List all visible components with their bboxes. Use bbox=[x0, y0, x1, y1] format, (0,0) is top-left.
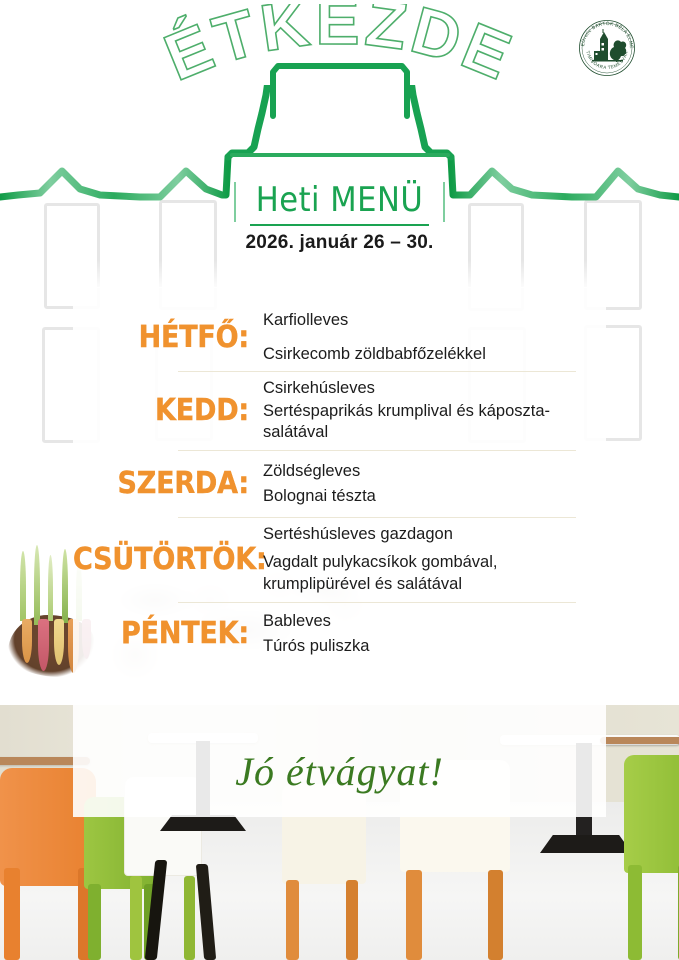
photo-chair-black-1 bbox=[148, 820, 218, 960]
menu-row-tuesday: KEDD: Csirkehúsleves Sertéspaprikás krum… bbox=[73, 372, 606, 450]
dish-item: Sertéshúsleves gazdagon bbox=[263, 524, 606, 546]
poster-title-text: ÉTKEZDE bbox=[154, 4, 524, 95]
dish-item: Vagdalt pulykacsíkok gombával, krumplipü… bbox=[263, 552, 606, 596]
day-label-monday: HÉTFŐ: bbox=[73, 323, 263, 353]
section-title-wrap: Heti MENÜ bbox=[0, 180, 679, 224]
photo-table-wood-right bbox=[600, 737, 679, 744]
title-rule-left bbox=[234, 182, 236, 222]
dishes-thursday: Sertéshúsleves gazdagon Vagdalt pulykacs… bbox=[263, 524, 606, 595]
dish-item: Zöldségleves bbox=[263, 461, 606, 483]
menu-row-thursday: CSÜTÖRTÖK: Sertéshúsleves gazdagon Vagda… bbox=[73, 518, 606, 602]
svg-text:ÉTKEZDE: ÉTKEZDE bbox=[154, 4, 524, 95]
dish-item: Bableves bbox=[263, 611, 606, 633]
dishes-wednesday: Zöldségleves Bolognai tészta bbox=[263, 461, 606, 508]
menu-list: HÉTFŐ: Karfiolleves Csirkecomb zöldbabfő… bbox=[73, 305, 606, 665]
menu-row-monday: HÉTFŐ: Karfiolleves Csirkecomb zöldbabfő… bbox=[73, 305, 606, 371]
closing-message: Jó étvágyat! bbox=[0, 748, 679, 795]
section-title-text: Heti MENÜ bbox=[256, 180, 424, 220]
day-label-friday: PÉNTEK: bbox=[73, 619, 263, 649]
dish-item: Sertéspaprikás krumplival és káposzta- s… bbox=[263, 401, 606, 445]
day-label-wednesday: SZERDA: bbox=[73, 469, 263, 499]
dishes-friday: Bableves Túrós puliszka bbox=[263, 611, 606, 658]
title-underline bbox=[250, 224, 430, 226]
dish-item: Túrós puliszka bbox=[263, 636, 606, 658]
dish-item: Csirkecomb zöldbabfőzelékkel bbox=[263, 344, 606, 366]
menu-poster: ÉTKEZDE TEMESVÁRI TEOretic BARTÓK BÉLA E… bbox=[0, 0, 679, 960]
photo-table-base-2 bbox=[540, 835, 632, 853]
dish-item: Csirkehúsleves bbox=[263, 378, 606, 400]
dishes-monday: Karfiolleves Csirkecomb zöldbabfőzelékke… bbox=[263, 310, 606, 366]
dishes-tuesday: Csirkehúsleves Sertéspaprikás krumplival… bbox=[263, 378, 606, 444]
date-range: 2026. január 26 – 30. bbox=[0, 232, 679, 254]
dish-item: Karfiolleves bbox=[263, 310, 606, 332]
school-seal-logo: TEMESVÁRI TEOretic BARTÓK BÉLA ELMÉLETI … bbox=[577, 18, 637, 78]
panel-fade bbox=[73, 260, 606, 288]
day-label-thursday: CSÜTÖRTÖK: bbox=[73, 545, 263, 575]
menu-row-friday: PÉNTEK: Bableves Túrós puliszka bbox=[73, 603, 606, 665]
section-title: Heti MENÜ bbox=[230, 180, 450, 224]
day-label-tuesday: KEDD: bbox=[73, 396, 263, 426]
title-rule-right bbox=[443, 182, 445, 222]
dish-item: Bolognai tészta bbox=[263, 486, 606, 508]
menu-row-wednesday: SZERDA: Zöldségleves Bolognai tészta bbox=[73, 451, 606, 517]
